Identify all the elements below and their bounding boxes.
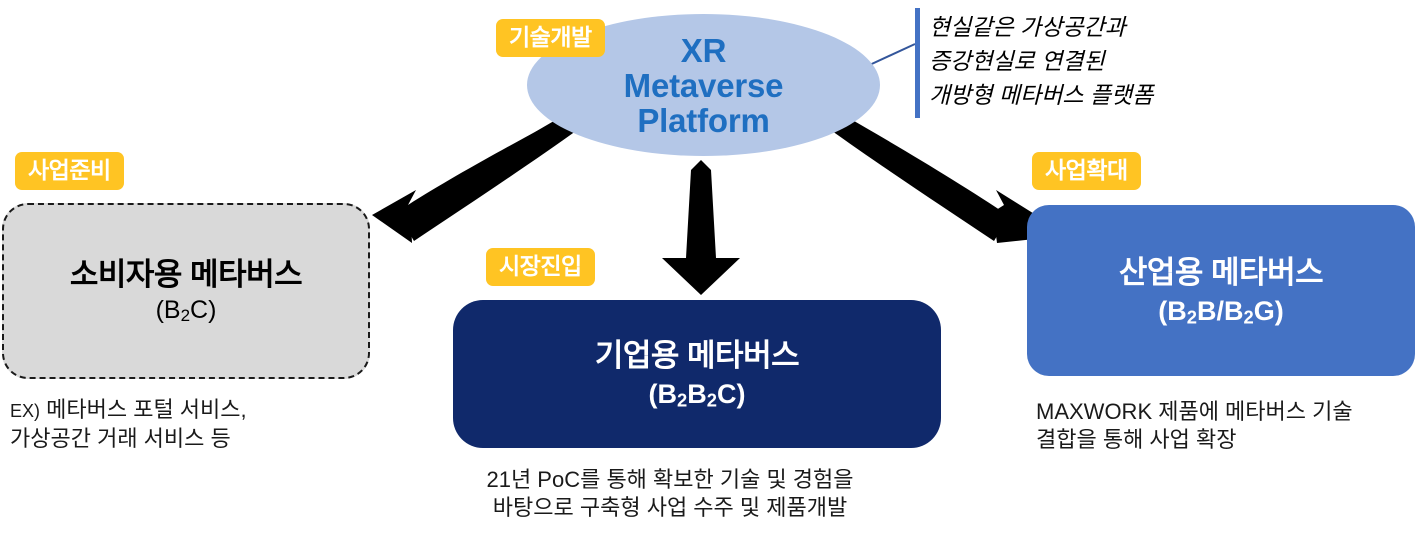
box-consumer-title: 소비자용 메타버스 (70, 256, 302, 294)
arrow-left-body (399, 109, 580, 241)
caption-enterprise: 21년 PoC를 통해 확보한 기술 및 경험을 바탕으로 구축형 사업 수주 … (450, 466, 890, 522)
box-industrial-sub-digit-1: 2 (1187, 306, 1197, 327)
box-enterprise-sub-digit-2: 2 (707, 389, 717, 410)
arrow-left-curved (372, 112, 578, 243)
hub-title-line-2: Metaverse (624, 68, 784, 103)
box-enterprise-sub-prefix: (B (649, 379, 678, 409)
caption-consumer-prefix: EX) (10, 401, 40, 421)
diagram-canvas: XR Metaverse Platform 기술개발 사업준비 시장진입 사업확… (0, 0, 1416, 537)
arrow-right-curved (828, 109, 1009, 241)
box-industrial-title: 산업용 메타버스 (1119, 253, 1323, 293)
annotation-bar (915, 8, 920, 118)
badge-business-prep[interactable]: 사업준비 (15, 152, 124, 190)
badge-market-entry[interactable]: 시장진입 (486, 248, 595, 286)
box-enterprise-title: 기업용 메타버스 (595, 336, 799, 376)
caption-consumer-body: 메타버스 포털 서비스, 가상공간 거래 서비스 등 (10, 397, 247, 451)
box-enterprise-metaverse[interactable]: 기업용 메타버스 (B2B2C) (453, 300, 941, 448)
box-industrial-metaverse[interactable]: 산업용 메타버스 (B2B/B2G) (1027, 205, 1415, 376)
box-industrial-sub-digit-2: 2 (1244, 306, 1254, 327)
box-consumer-sub-prefix: (B (156, 296, 181, 324)
box-consumer-sub-digit: 2 (181, 306, 190, 325)
badge-tech-development[interactable]: 기술개발 (496, 19, 605, 57)
box-enterprise-sub-suffix: C) (717, 379, 746, 409)
box-industrial-sub-suffix: G) (1254, 296, 1284, 326)
annotation-text: 현실같은 가상공간과 증강현실로 연결된 개방형 메타버스 플랫폼 (929, 10, 1153, 112)
arrow-down (662, 160, 740, 295)
box-enterprise-sub-mid: B (687, 379, 707, 409)
caption-industrial: MAXWORK 제품에 메타버스 기술 결합을 통해 사업 확장 (1036, 398, 1353, 454)
box-consumer-subtitle: (B2C) (156, 294, 217, 326)
hub-title-line-3: Platform (637, 103, 769, 138)
box-industrial-sub-mid: B/B (1197, 296, 1244, 326)
box-industrial-subtitle: (B2B/B2G) (1158, 293, 1283, 329)
box-consumer-sub-suffix: C) (190, 296, 216, 324)
badge-business-expand[interactable]: 사업확대 (1032, 152, 1141, 190)
box-industrial-sub-prefix: (B (1158, 296, 1187, 326)
caption-consumer: EX) 메타버스 포털 서비스, 가상공간 거래 서비스 등 (10, 396, 247, 453)
box-enterprise-subtitle: (B2B2C) (649, 376, 746, 412)
box-consumer-metaverse[interactable]: 소비자용 메타버스 (B2C) (2, 203, 370, 379)
hub-title-line-1: XR (681, 33, 726, 68)
box-enterprise-sub-digit-1: 2 (677, 389, 687, 410)
